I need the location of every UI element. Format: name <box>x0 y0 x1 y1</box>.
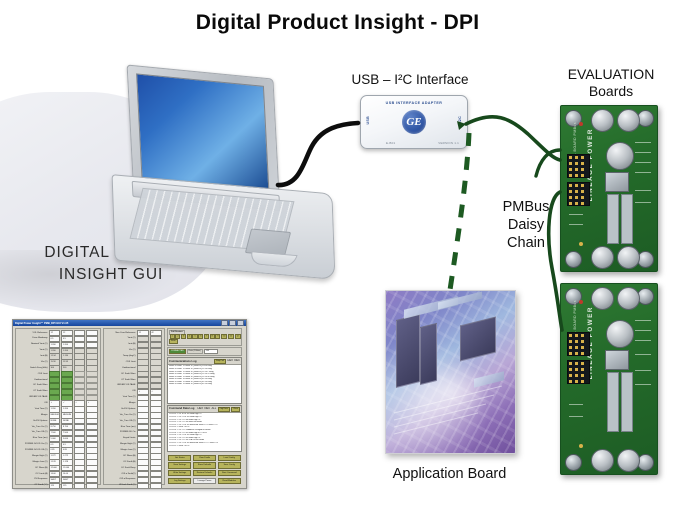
gui-row-label: Unidirectional <box>106 366 138 371</box>
device-button[interactable]: 12 <box>235 334 241 339</box>
gui-row-label: OT Fault (°C) <box>18 483 50 488</box>
gui-left-panel[interactable]: VOL Reference1212Drive Modeway0.50.5Nomi… <box>15 328 101 485</box>
gui-row-label: Vin_Turn Off (V) <box>18 430 50 435</box>
usb-cable-black <box>278 123 358 185</box>
application-board-image <box>385 290 516 454</box>
gui-body: VOL Reference1212Drive Modeway0.50.5Nomi… <box>13 326 246 487</box>
gui-row-label: UNDER VOLTAGE <box>18 395 50 400</box>
connection-status-badge: CONNECTED <box>169 349 186 354</box>
gui-action-button[interactable]: Get Status <box>168 455 191 461</box>
clear-log-button[interactable]: Clear <box>231 407 240 412</box>
gui-row-label: Vout (V) <box>18 348 50 353</box>
command-data-log-title: Command Data Log <box>169 407 194 412</box>
log-line: 11:41:25 -> Start 1 of 55 <box>168 445 241 448</box>
gui-row-label: Vin_Turn On (V) <box>106 413 138 418</box>
gui-row-label: ON <box>18 401 50 406</box>
gui-row-label: POWER GOOD On (V) <box>18 442 50 447</box>
all-radio[interactable]: ALL <box>212 407 217 412</box>
gui-row-label: Vout Trim (V) <box>18 407 50 412</box>
gui-row-label: Margin <box>106 401 138 406</box>
gui-poll-toolbar[interactable]: Poll Devices 123456789101112 Scan <box>167 328 242 346</box>
device-button[interactable]: 3 <box>181 334 186 339</box>
gui-input-field[interactable] <box>74 483 85 489</box>
gui-row-label: Margin High (V) <box>106 442 138 447</box>
gui-action-button[interactable]: Clear Faults <box>193 455 216 461</box>
gui-connection-toolbar[interactable]: CONNECTED Rate (100ms) 500 <box>167 347 242 356</box>
pmbus-cable-dashed-to-application-board <box>450 133 469 290</box>
gui-row-label: Vout (V) <box>106 336 138 341</box>
gui-right-panel[interactable]: Poll Devices 123456789101112 Scan CONNEC… <box>167 328 242 485</box>
gui-input-field[interactable] <box>137 483 149 489</box>
application-board-slot <box>438 292 482 310</box>
gui-action-button[interactable]: Save Config <box>218 462 241 468</box>
gui-row-label: Drive Modeway <box>18 336 50 341</box>
log-line: Read: 45 Write: 79 Read: 47 [Read 10] 41… <box>168 383 241 386</box>
gui-row-label: Margin <box>18 413 50 418</box>
gui-row-label: Unidirectional <box>18 378 50 383</box>
gui-row-label: OC Warn (A) <box>106 454 138 459</box>
device-button[interactable]: 9 <box>215 334 220 339</box>
device-button[interactable]: 11 <box>228 334 234 339</box>
gui-row-label: POWER GOOD Off (V) <box>18 448 50 453</box>
gui-row-label: Temp (degC) <box>106 354 138 359</box>
communications-log-header: Communications Log Stop Poll HEX DEC <box>168 358 241 365</box>
device-select-buttons[interactable]: 123456789101112 <box>169 336 241 338</box>
command-data-log-header: Command Data Log HEX DEC ALL Log Data Cl… <box>168 406 241 413</box>
gui-action-button[interactable]: Restore Defaults <box>193 470 216 476</box>
gui-row-label: Iout (A) <box>106 342 138 347</box>
gui-row-label: ON <box>106 389 138 394</box>
gui-action-button-grid[interactable]: Get StatusClear FaultsLoad ConfigSave Se… <box>167 454 242 485</box>
scan-button[interactable]: Scan <box>169 339 178 344</box>
dec-radio[interactable]: DEC <box>234 359 240 364</box>
gui-row-label: UNDER VOLTAGE <box>106 383 138 388</box>
gui-input-field[interactable] <box>86 483 97 489</box>
application-board-caption: Application Board <box>372 466 527 482</box>
dpi-gui-window[interactable]: Digital Power Insight™ PMB_DPI GUI V1.05… <box>12 319 247 489</box>
gui-row-label: VOL Reference <box>18 331 50 336</box>
gui-action-button[interactable]: Store Defaults <box>193 462 216 468</box>
maximize-icon[interactable] <box>229 320 236 326</box>
gui-input-field[interactable]: 125 <box>61 483 72 489</box>
gui-row-label: Keyed Limits <box>106 436 138 441</box>
pmbus-cable-adapter-stub <box>457 121 466 130</box>
gui-action-button[interactable]: Start Command <box>218 470 241 476</box>
gui-row-label: OC Fault Warn <box>18 383 50 388</box>
gui-input-field[interactable] <box>150 483 162 489</box>
gui-row-label: Non Core Reference <box>106 331 138 336</box>
device-button[interactable]: 8 <box>210 334 215 339</box>
log-data-button[interactable]: Log Data <box>218 407 230 412</box>
gui-action-button[interactable]: Save Settings <box>168 462 191 468</box>
rate-label: Rate (100ms) <box>187 349 203 354</box>
stop-poll-button[interactable]: Stop Poll <box>214 359 226 364</box>
gui-window-title: Digital Power Insight™ PMB_DPI GUI V1.05 <box>15 322 68 325</box>
rate-input[interactable]: 500 <box>204 349 218 354</box>
gui-row-label: Iout (A) <box>18 354 50 359</box>
command-data-log-lines: 11:41:23 -> 19 10 01 05 0x0A Page 7011:4… <box>168 413 241 447</box>
gui-row-label: OVF Limit <box>106 360 138 365</box>
gui-row-label: POWER GD On <box>106 430 138 435</box>
gui-row-label: OC Fault (A) <box>106 460 138 465</box>
application-board-chip <box>396 314 420 388</box>
gui-row-label: Vin (V) <box>18 360 50 365</box>
gui-row-label: On/Off Options <box>18 419 50 424</box>
gui-row-label: OV Response <box>18 477 50 482</box>
hex-radio[interactable]: HEX <box>227 359 233 364</box>
gui-row-label: Nominal Vout (V) <box>18 342 50 347</box>
application-board-chip <box>460 317 496 362</box>
gui-row-label: Vin_Turn On (V) <box>18 425 50 430</box>
gui-row-label: Margin Low (V) <box>106 448 138 453</box>
gui-row-label: Switch Freq (kHz) <box>18 366 50 371</box>
gui-row-label: Vout Trim (V) <box>106 395 138 400</box>
device-button[interactable]: 5 <box>192 334 197 339</box>
communications-log-title: Communications Log <box>169 360 196 363</box>
gui-row-label: Vin_Turn Off (V) <box>106 419 138 424</box>
gui-action-button[interactable]: Log Settings <box>168 478 191 484</box>
hex-radio[interactable]: HEX <box>198 407 204 412</box>
gui-row-label: On/Off Options <box>106 407 138 412</box>
gui-window-controls[interactable] <box>221 320 244 326</box>
device-button[interactable]: 6 <box>198 334 203 339</box>
gui-row-label: OC Fault Warn <box>106 372 138 377</box>
gui-row-label: Vin (V) <box>106 348 138 353</box>
gui-row-label: Rise Time (ms) <box>18 436 50 441</box>
gui-row-label: OVF Limit <box>18 372 50 377</box>
gui-row-label: Margin Low (V) <box>18 460 50 465</box>
gui-row-label: OVLo Fault(V) <box>106 472 138 477</box>
communications-log-lines: Read: 45 Write: 79 Read: 47 [Read 10] 20… <box>168 365 241 386</box>
minimize-icon[interactable] <box>221 320 228 326</box>
gui-row-label: Rise Time (ms) <box>106 425 138 430</box>
pmbus-cable-board1-left-stub <box>536 150 560 176</box>
gui-row-label: OT Fault Warn <box>106 378 138 383</box>
gui-action-button[interactable]: Write Settings <box>168 470 191 476</box>
gui-action-button[interactable]: Load Config <box>218 455 241 461</box>
gui-row-label: UVLock Fault (V) <box>106 483 138 488</box>
gui-row-label: OC Fault Resp <box>106 466 138 471</box>
communications-log-panel[interactable]: Communications Log Stop Poll HEX DEC Rea… <box>167 357 242 404</box>
gui-row-label: OC Limit (A) <box>18 472 50 477</box>
gui-row-label: OT Fault Warn <box>18 389 50 394</box>
command-data-log-panel[interactable]: Command Data Log HEX DEC ALL Log Data Cl… <box>167 405 242 452</box>
device-button[interactable]: 7 <box>204 334 209 339</box>
pmbus-cable-board1-to-board2 <box>549 192 562 330</box>
device-button[interactable]: 10 <box>221 334 227 339</box>
gui-input-field[interactable]: 125 <box>49 483 60 489</box>
close-icon[interactable] <box>237 320 244 326</box>
gui-row-label: OC Warn (A) <box>18 466 50 471</box>
gui-action-button[interactable]: Read Modules <box>218 478 241 484</box>
gui-mid-panel[interactable]: Non Core Reference1242Vout (V)Iout (A)Vi… <box>103 328 165 485</box>
gui-row-label: OVLo Response <box>106 477 138 482</box>
gui-row-label: Margin High (V) <box>18 454 50 459</box>
application-board-chip <box>420 323 437 385</box>
dec-radio[interactable]: DEC <box>204 407 210 412</box>
gui-action-button[interactable]: Lineage Power <box>193 478 216 484</box>
